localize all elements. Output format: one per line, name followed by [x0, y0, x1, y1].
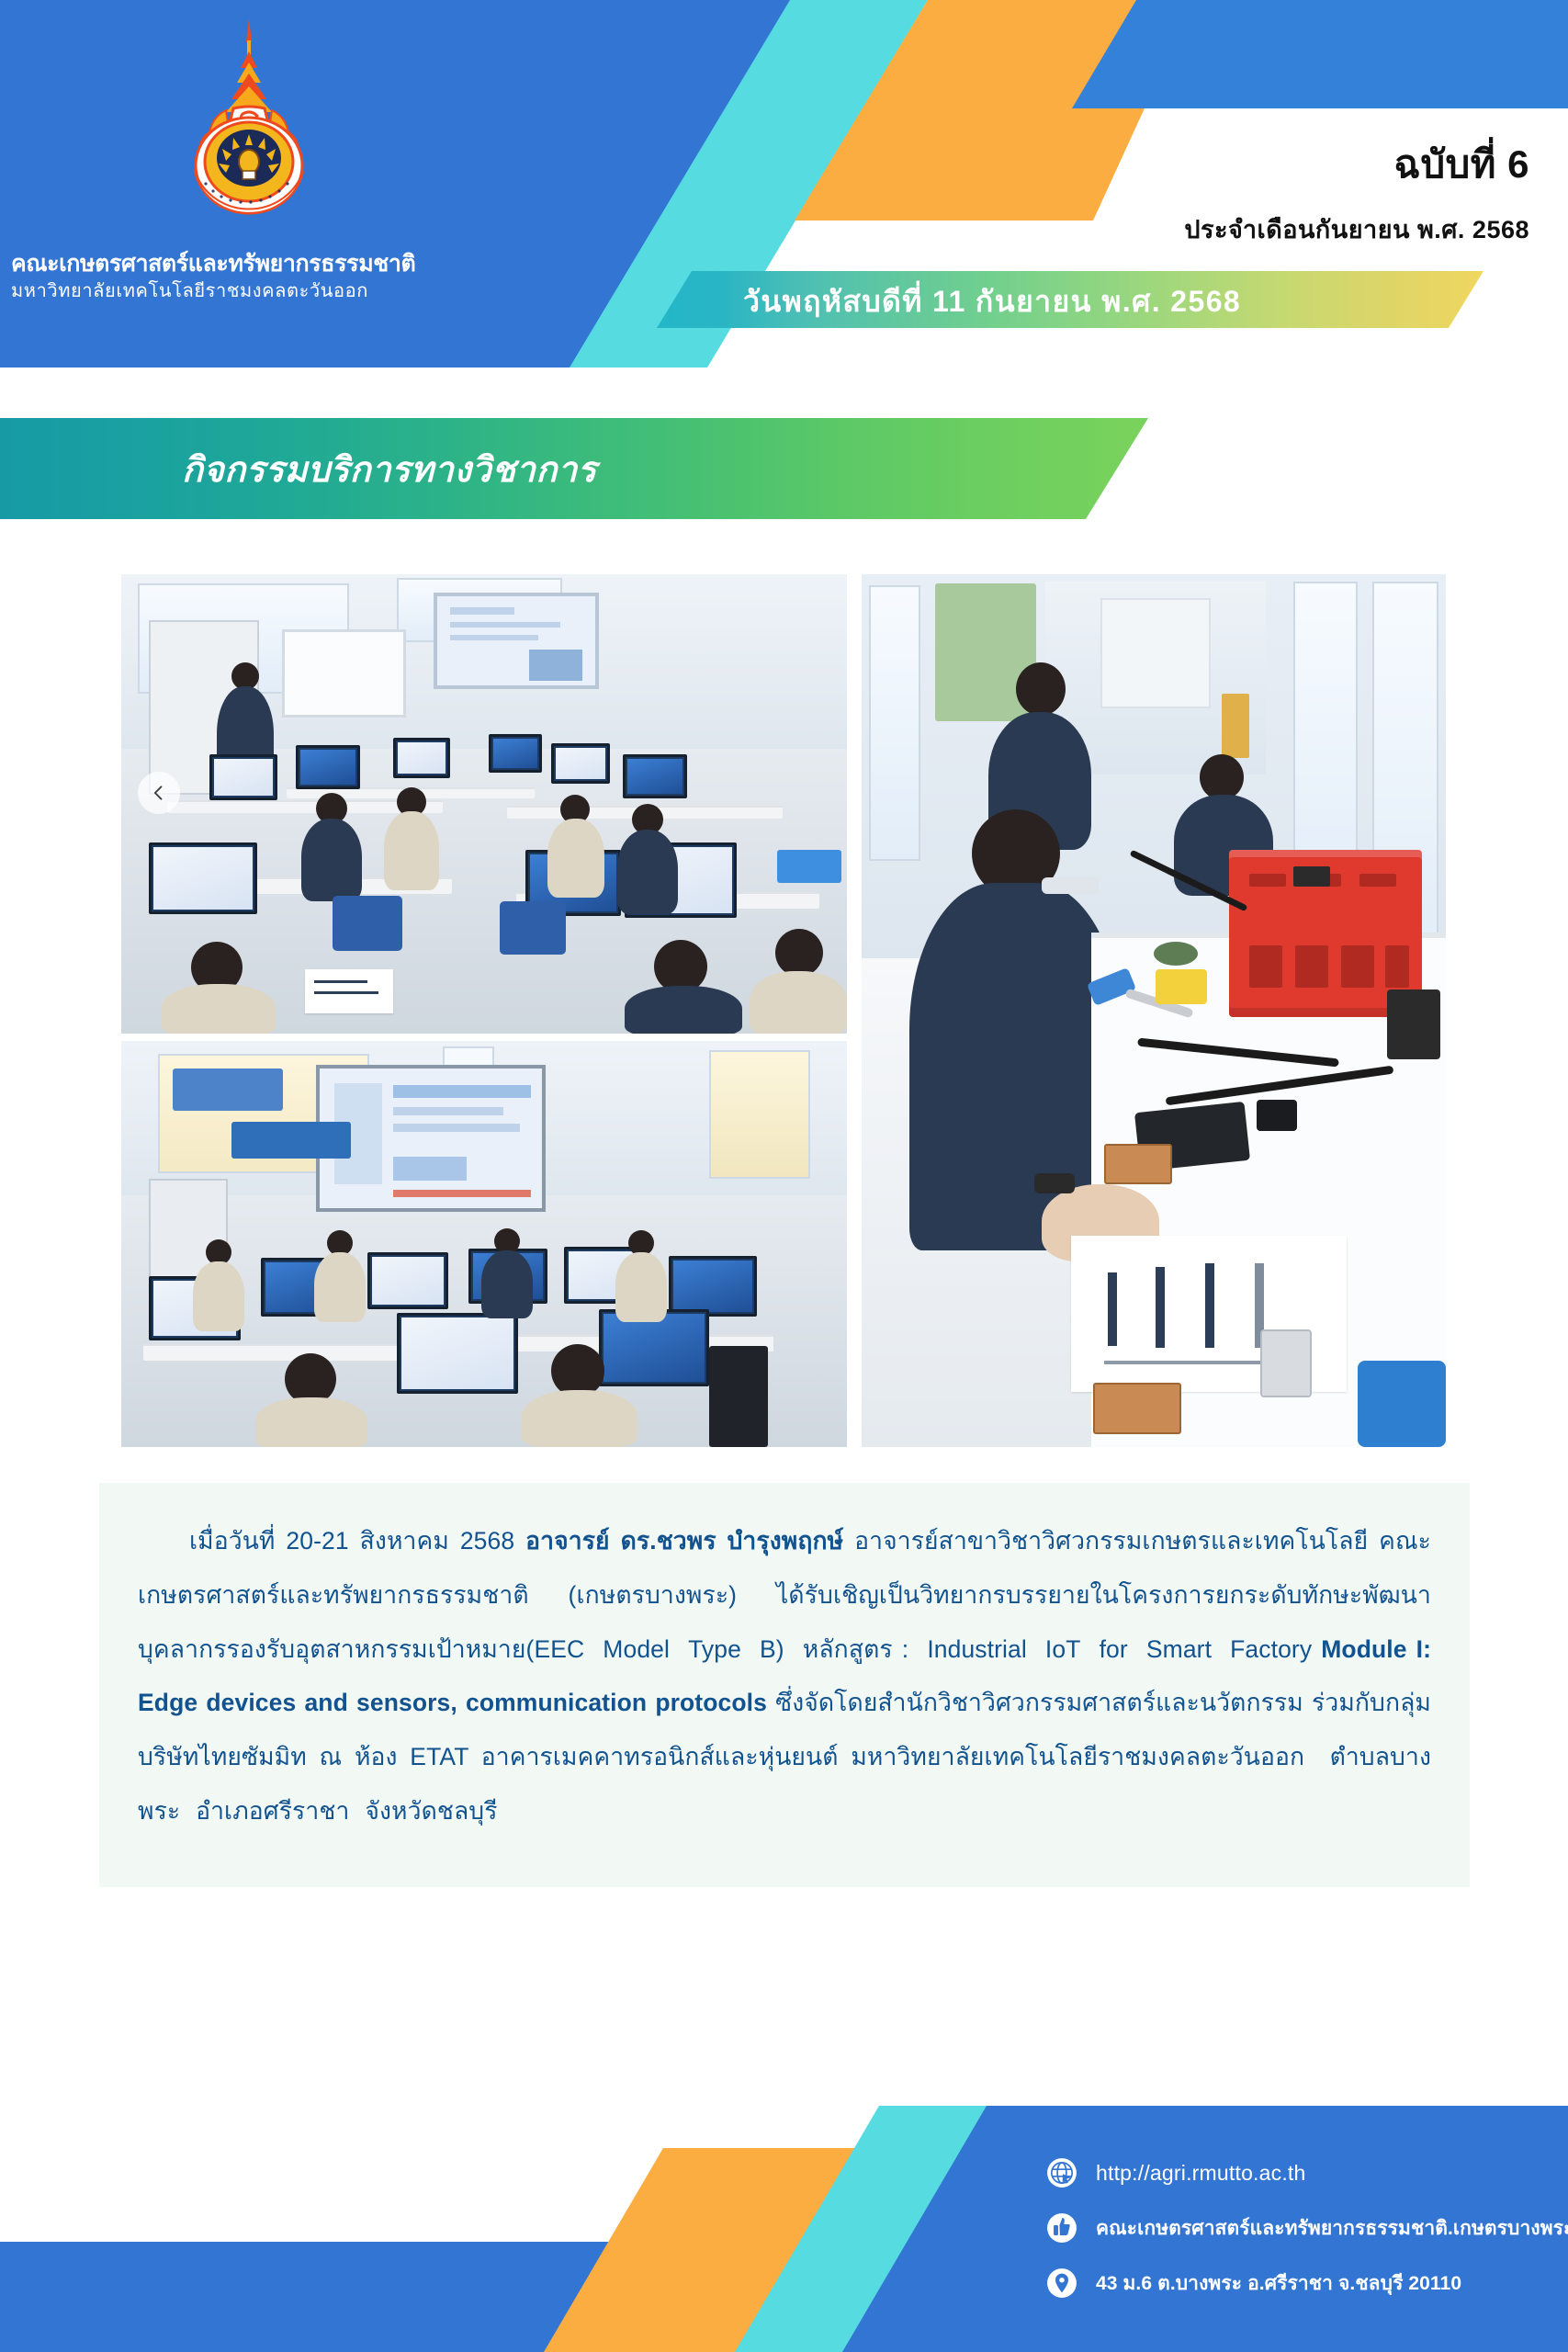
article-card: เมื่อวันที่ 20-21 สิงหาคม 2568 อาจารย์ ด…: [99, 1483, 1470, 1887]
footer-website-row[interactable]: http://agri.rmutto.ac.th: [1046, 2157, 1550, 2188]
photo-classroom-projector: [121, 1041, 847, 1447]
footer-contact-list: http://agri.rmutto.ac.th คณะเกษตรศาสตร์แ…: [842, 2106, 1568, 2352]
footer-address-row: 43 ม.6 ต.บางพระ อ.ศรีราชา จ.ชลบุรี 20110: [1046, 2267, 1550, 2299]
section-banner: กิจกรรมบริการทางวิชาการ: [0, 418, 1148, 519]
faculty-title: คณะเกษตรศาสตร์และทรัพยากรธรรมชาติ: [11, 250, 581, 278]
header-blue-right-shape: [1072, 0, 1568, 108]
footer-facebook-label[interactable]: คณะเกษตรศาสตร์และทรัพยากรธรรมชาติ.เกษตรบ…: [1096, 2213, 1568, 2244]
newsletter-page: คณะเกษตรศาสตร์และทรัพยากรธรรมชาติ มหาวิท…: [0, 0, 1568, 2352]
issue-month: ประจำเดือนกันยายน พ.ศ. 2568: [1184, 209, 1529, 249]
footer-address-label: 43 ม.6 ต.บางพระ อ.ศรีราชา จ.ชลบุรี 20110: [1096, 2268, 1461, 2299]
gallery-prev-button[interactable]: [138, 772, 180, 814]
photo-lab-soldering-bench: [862, 574, 1446, 1447]
faculty-subtitle: มหาวิทยาลัยเทคโนโลยีราชมงคลตะวันออก: [11, 280, 581, 303]
article-text: เมื่อวันที่ 20-21 สิงหาคม 2568: [189, 1527, 525, 1555]
thumbs-up-icon: [1046, 2212, 1077, 2244]
article-paragraph: เมื่อวันที่ 20-21 สิงหาคม 2568 อาจารย์ ด…: [138, 1514, 1431, 1838]
page-header: คณะเกษตรศาสตร์และทรัพยากรธรรมชาติ มหาวิท…: [0, 0, 1568, 367]
photo-gallery: [121, 574, 1446, 1447]
footer-facebook-row[interactable]: คณะเกษตรศาสตร์และทรัพยากรธรรมชาติ.เกษตรบ…: [1046, 2212, 1550, 2244]
publication-date-banner: วันพฤหัสบดีที่ 11 กันยายน พ.ศ. 2568: [657, 271, 1483, 328]
photo-classroom-lecture: [121, 574, 847, 1034]
issue-number: ฉบับที่ 6: [1393, 134, 1529, 195]
section-banner-title: กิจกรรมบริการทางวิชาการ: [182, 441, 597, 497]
globe-icon: [1046, 2157, 1077, 2188]
article-emphasis: อาจารย์ ดร.ชวพร บำรุงพฤกษ์: [525, 1527, 843, 1555]
chevron-left-icon: [150, 784, 168, 802]
page-footer: http://agri.rmutto.ac.th คณะเกษตรศาสตร์แ…: [0, 2086, 1568, 2352]
rmutto-university-emblem-icon: [162, 17, 336, 220]
map-pin-icon: [1046, 2267, 1077, 2299]
publication-date-label: วันพฤหัสบดีที่ 11 กันยายน พ.ศ. 2568: [743, 278, 1241, 325]
footer-website-label[interactable]: http://agri.rmutto.ac.th: [1096, 2161, 1306, 2186]
